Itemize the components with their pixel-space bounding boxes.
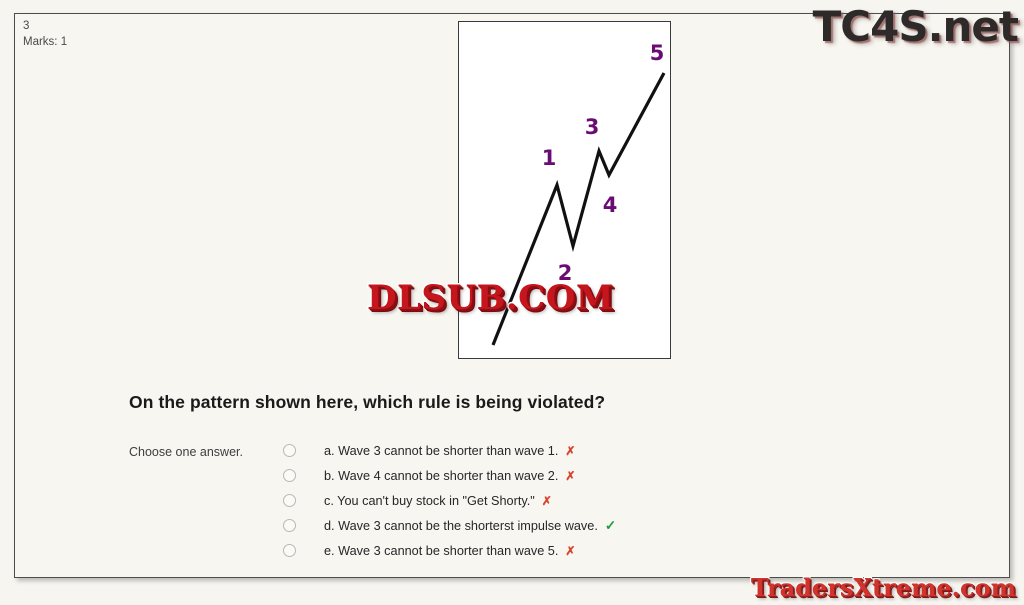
wave-label-1: 1 xyxy=(542,146,557,170)
incorrect-cross-icon: ✗ xyxy=(565,544,575,558)
wave-label-5: 5 xyxy=(650,41,665,65)
answer-option-c[interactable]: c. You can't buy stock in "Get Shorty."✗ xyxy=(283,488,616,513)
incorrect-cross-icon: ✗ xyxy=(542,494,552,508)
answer-label: b. Wave 4 cannot be shorter than wave 2. xyxy=(324,469,558,483)
wave-label-4: 4 xyxy=(603,193,618,217)
answer-option-b[interactable]: b. Wave 4 cannot be shorter than wave 2.… xyxy=(283,463,616,488)
radio-button-c[interactable] xyxy=(283,494,296,507)
watermark-dlsub: DLSUB.COM xyxy=(367,278,614,318)
watermark-tradersxtreme: TradersXtreme.com xyxy=(751,573,1016,602)
question-meta: 3 Marks: 1 xyxy=(23,18,67,50)
answer-label: c. You can't buy stock in "Get Shorty." xyxy=(324,494,535,508)
correct-check-icon: ✓ xyxy=(605,518,616,534)
question-number: 3 xyxy=(23,18,67,34)
answer-label: d. Wave 3 cannot be the shorterst impuls… xyxy=(324,519,598,533)
choose-one-answer-label: Choose one answer. xyxy=(129,445,243,459)
radio-button-b[interactable] xyxy=(283,469,296,482)
page-title: On the pattern shown here, which rule is… xyxy=(129,392,605,413)
incorrect-cross-icon: ✗ xyxy=(565,444,575,458)
answer-options-list: a. Wave 3 cannot be shorter than wave 1.… xyxy=(283,438,616,563)
incorrect-cross-icon: ✗ xyxy=(565,469,575,483)
answer-option-e[interactable]: e. Wave 3 cannot be shorter than wave 5.… xyxy=(283,538,616,563)
radio-button-e[interactable] xyxy=(283,544,296,557)
watermark-tc4s: TC4S.net xyxy=(813,2,1018,51)
answer-label: e. Wave 3 cannot be shorter than wave 5. xyxy=(324,544,558,558)
radio-button-d[interactable] xyxy=(283,519,296,532)
answer-option-d[interactable]: d. Wave 3 cannot be the shorterst impuls… xyxy=(283,513,616,538)
question-marks: Marks: 1 xyxy=(23,34,67,50)
wave-label-3: 3 xyxy=(585,115,600,139)
quiz-page: 3 Marks: 1 12345 On the pattern shown he… xyxy=(0,0,1024,605)
radio-button-a[interactable] xyxy=(283,444,296,457)
answer-label: a. Wave 3 cannot be shorter than wave 1. xyxy=(324,444,558,458)
answer-option-a[interactable]: a. Wave 3 cannot be shorter than wave 1.… xyxy=(283,438,616,463)
